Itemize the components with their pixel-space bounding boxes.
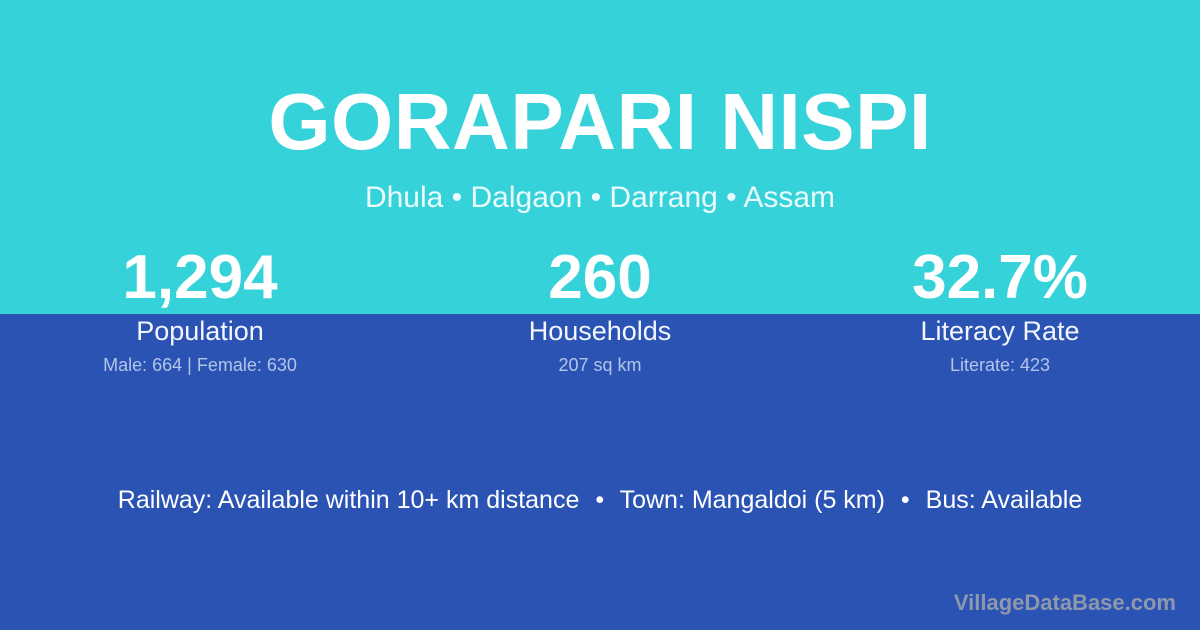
literacy-rate-label: Literacy Rate [800,316,1200,346]
bus-info: Bus: Available [926,486,1083,514]
population-breakdown: Male: 664 | Female: 630 [0,355,400,375]
stat-households: 260 Households 207 sq km [400,247,800,375]
village-info-card: GORAPARI NISPI Dhula • Dalgaon • Darrang… [0,0,1200,630]
card-header: GORAPARI NISPI Dhula • Dalgaon • Darrang… [0,0,1200,213]
amenities-info-line: Railway: Available within 10+ km distanc… [0,484,1200,516]
page-title: GORAPARI NISPI [0,0,1200,162]
railway-info: Railway: Available within 10+ km distanc… [118,486,580,514]
bullet-separator-icon: • [892,484,919,516]
site-watermark: VillageDataBase.com [954,590,1176,616]
stat-literacy: 32.7% Literacy Rate Literate: 423 [800,247,1200,375]
households-label: Households [400,316,800,346]
stats-row: 1,294 Population Male: 664 | Female: 630… [0,247,1200,375]
households-value: 260 [400,247,800,309]
stat-population: 1,294 Population Male: 664 | Female: 630 [0,247,400,375]
town-info: Town: Mangaldoi (5 km) [620,486,885,514]
breadcrumb: Dhula • Dalgaon • Darrang • Assam [0,162,1200,213]
area-value: 207 sq km [400,355,800,375]
literacy-rate-value: 32.7% [800,247,1200,309]
literate-count: Literate: 423 [800,355,1200,375]
bullet-separator-icon: • [586,484,613,516]
population-label: Population [0,316,400,346]
population-value: 1,294 [0,247,400,309]
